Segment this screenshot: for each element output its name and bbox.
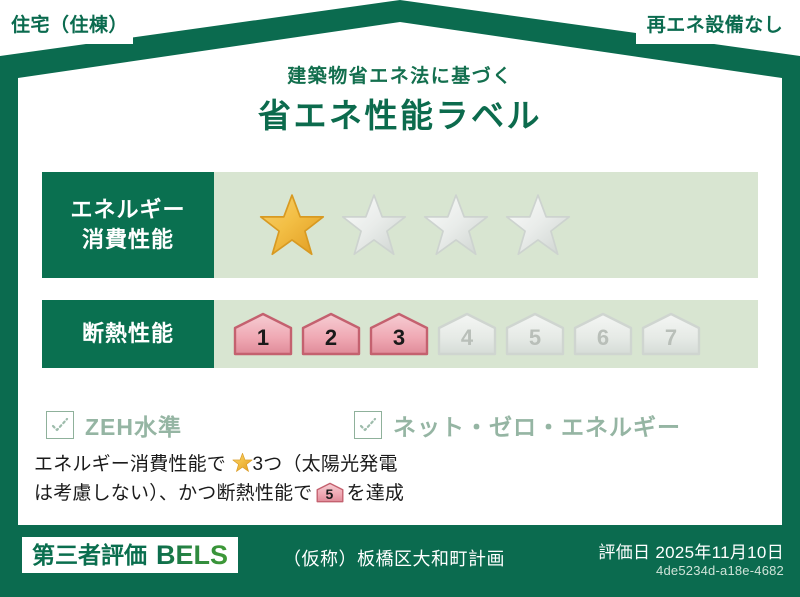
insulation-badge-6: 6	[572, 311, 634, 357]
building-type-tag: 住宅（住棟）	[6, 6, 133, 44]
insulation-badge-1: 1	[232, 311, 294, 357]
insulation-badge-1-value: 1	[232, 311, 294, 357]
insulation-badge-2: 2	[300, 311, 362, 357]
bels-logo-text: BELS	[156, 542, 228, 569]
insulation-performance-label: 断熱性能	[42, 300, 214, 368]
star-icon-empty-2	[340, 191, 408, 259]
zeh-description-line2-part-b: を達成	[347, 483, 405, 504]
insulation-badge-3: 3	[368, 311, 430, 357]
insulation-badge-3-value: 3	[368, 311, 430, 357]
insulation-performance-label-text: 断熱性能	[82, 319, 174, 349]
star-icon-empty-3	[422, 191, 490, 259]
zeh-description-line2: は考慮しない）、かつ断熱性能で 5 を達成	[34, 479, 454, 508]
net-zero-energy-label: ネット・ゼロ・エネルギー	[393, 408, 681, 442]
energy-performance-label-line1: エネルギー	[70, 195, 185, 225]
zeh-description-line2-part-a: は考慮しない）、かつ断熱性能で	[34, 483, 313, 504]
label-title-block: 建築物省エネ法に基づく 省エネ性能ラベル	[0, 66, 800, 138]
label-footer: 第三者評価 BELS （仮称）板橋区大和町計画 評価日 2025年11月10日 …	[0, 525, 800, 597]
zeh-description-line1-part-b: 3つ（太陽光発電	[253, 454, 398, 475]
title-subtitle: 建築物省エネ法に基づく	[0, 66, 800, 89]
zeh-criteria-row: ZEH水準 ネット・ゼロ・エネルギー	[46, 408, 746, 442]
page-title: 省エネ性能ラベル	[0, 95, 800, 138]
insulation-badge-inline-5: 5	[315, 482, 345, 503]
star-icon-inline	[232, 452, 253, 473]
checkbox-unchecked-icon-net-zero	[354, 411, 382, 439]
star-icon-filled-1	[258, 191, 326, 259]
zeh-description-line1-part-a: エネルギー消費性能で	[34, 454, 226, 475]
energy-performance-row: エネルギー 消費性能	[42, 172, 758, 278]
bels-certification-badge: 第三者評価 BELS	[22, 537, 238, 573]
insulation-badge-5-value: 5	[504, 311, 566, 357]
insulation-badge-inline-5-value: 5	[315, 482, 345, 503]
zeh-description-line1: エネルギー消費性能で 3つ（太陽光発電	[34, 450, 454, 479]
evaluation-date: 評価日 2025年11月10日	[598, 538, 784, 563]
bels-third-party-label: 第三者評価	[32, 544, 147, 567]
insulation-badge-2-value: 2	[300, 311, 362, 357]
star-icon-empty-4	[504, 191, 572, 259]
insulation-badge-4-value: 4	[436, 311, 498, 357]
insulation-badge-7: 7	[640, 311, 702, 357]
zeh-description: エネルギー消費性能で 3つ（太陽光発電 は考慮しない）、かつ断熱性能で 5 を達…	[34, 450, 454, 509]
zeh-standard-item: ZEH水準	[46, 408, 182, 442]
renewable-energy-tag: 再エネ設備なし	[636, 6, 794, 44]
evaluation-id: 4de5234d-a18e-4682	[656, 563, 784, 578]
insulation-badge-4: 4	[436, 311, 498, 357]
energy-performance-stars	[214, 172, 758, 278]
project-name: （仮称）板橋区大和町計画	[283, 545, 505, 571]
checkbox-unchecked-icon-zeh	[46, 411, 74, 439]
insulation-badge-6-value: 6	[572, 311, 634, 357]
net-zero-energy-item: ネット・ゼロ・エネルギー	[354, 408, 681, 442]
bels-energy-label: 住宅（住棟） 再エネ設備なし 建築物省エネ法に基づく 省エネ性能ラベル エネルギ…	[0, 0, 800, 597]
insulation-badge-5: 5	[504, 311, 566, 357]
insulation-badge-7-value: 7	[640, 311, 702, 357]
insulation-performance-row: 断熱性能	[42, 300, 758, 368]
zeh-standard-label: ZEH水準	[85, 408, 182, 442]
energy-performance-label-line2: 消費性能	[82, 225, 174, 255]
insulation-performance-badges: 1 2 3 4	[214, 300, 758, 368]
energy-performance-label: エネルギー 消費性能	[42, 172, 214, 278]
